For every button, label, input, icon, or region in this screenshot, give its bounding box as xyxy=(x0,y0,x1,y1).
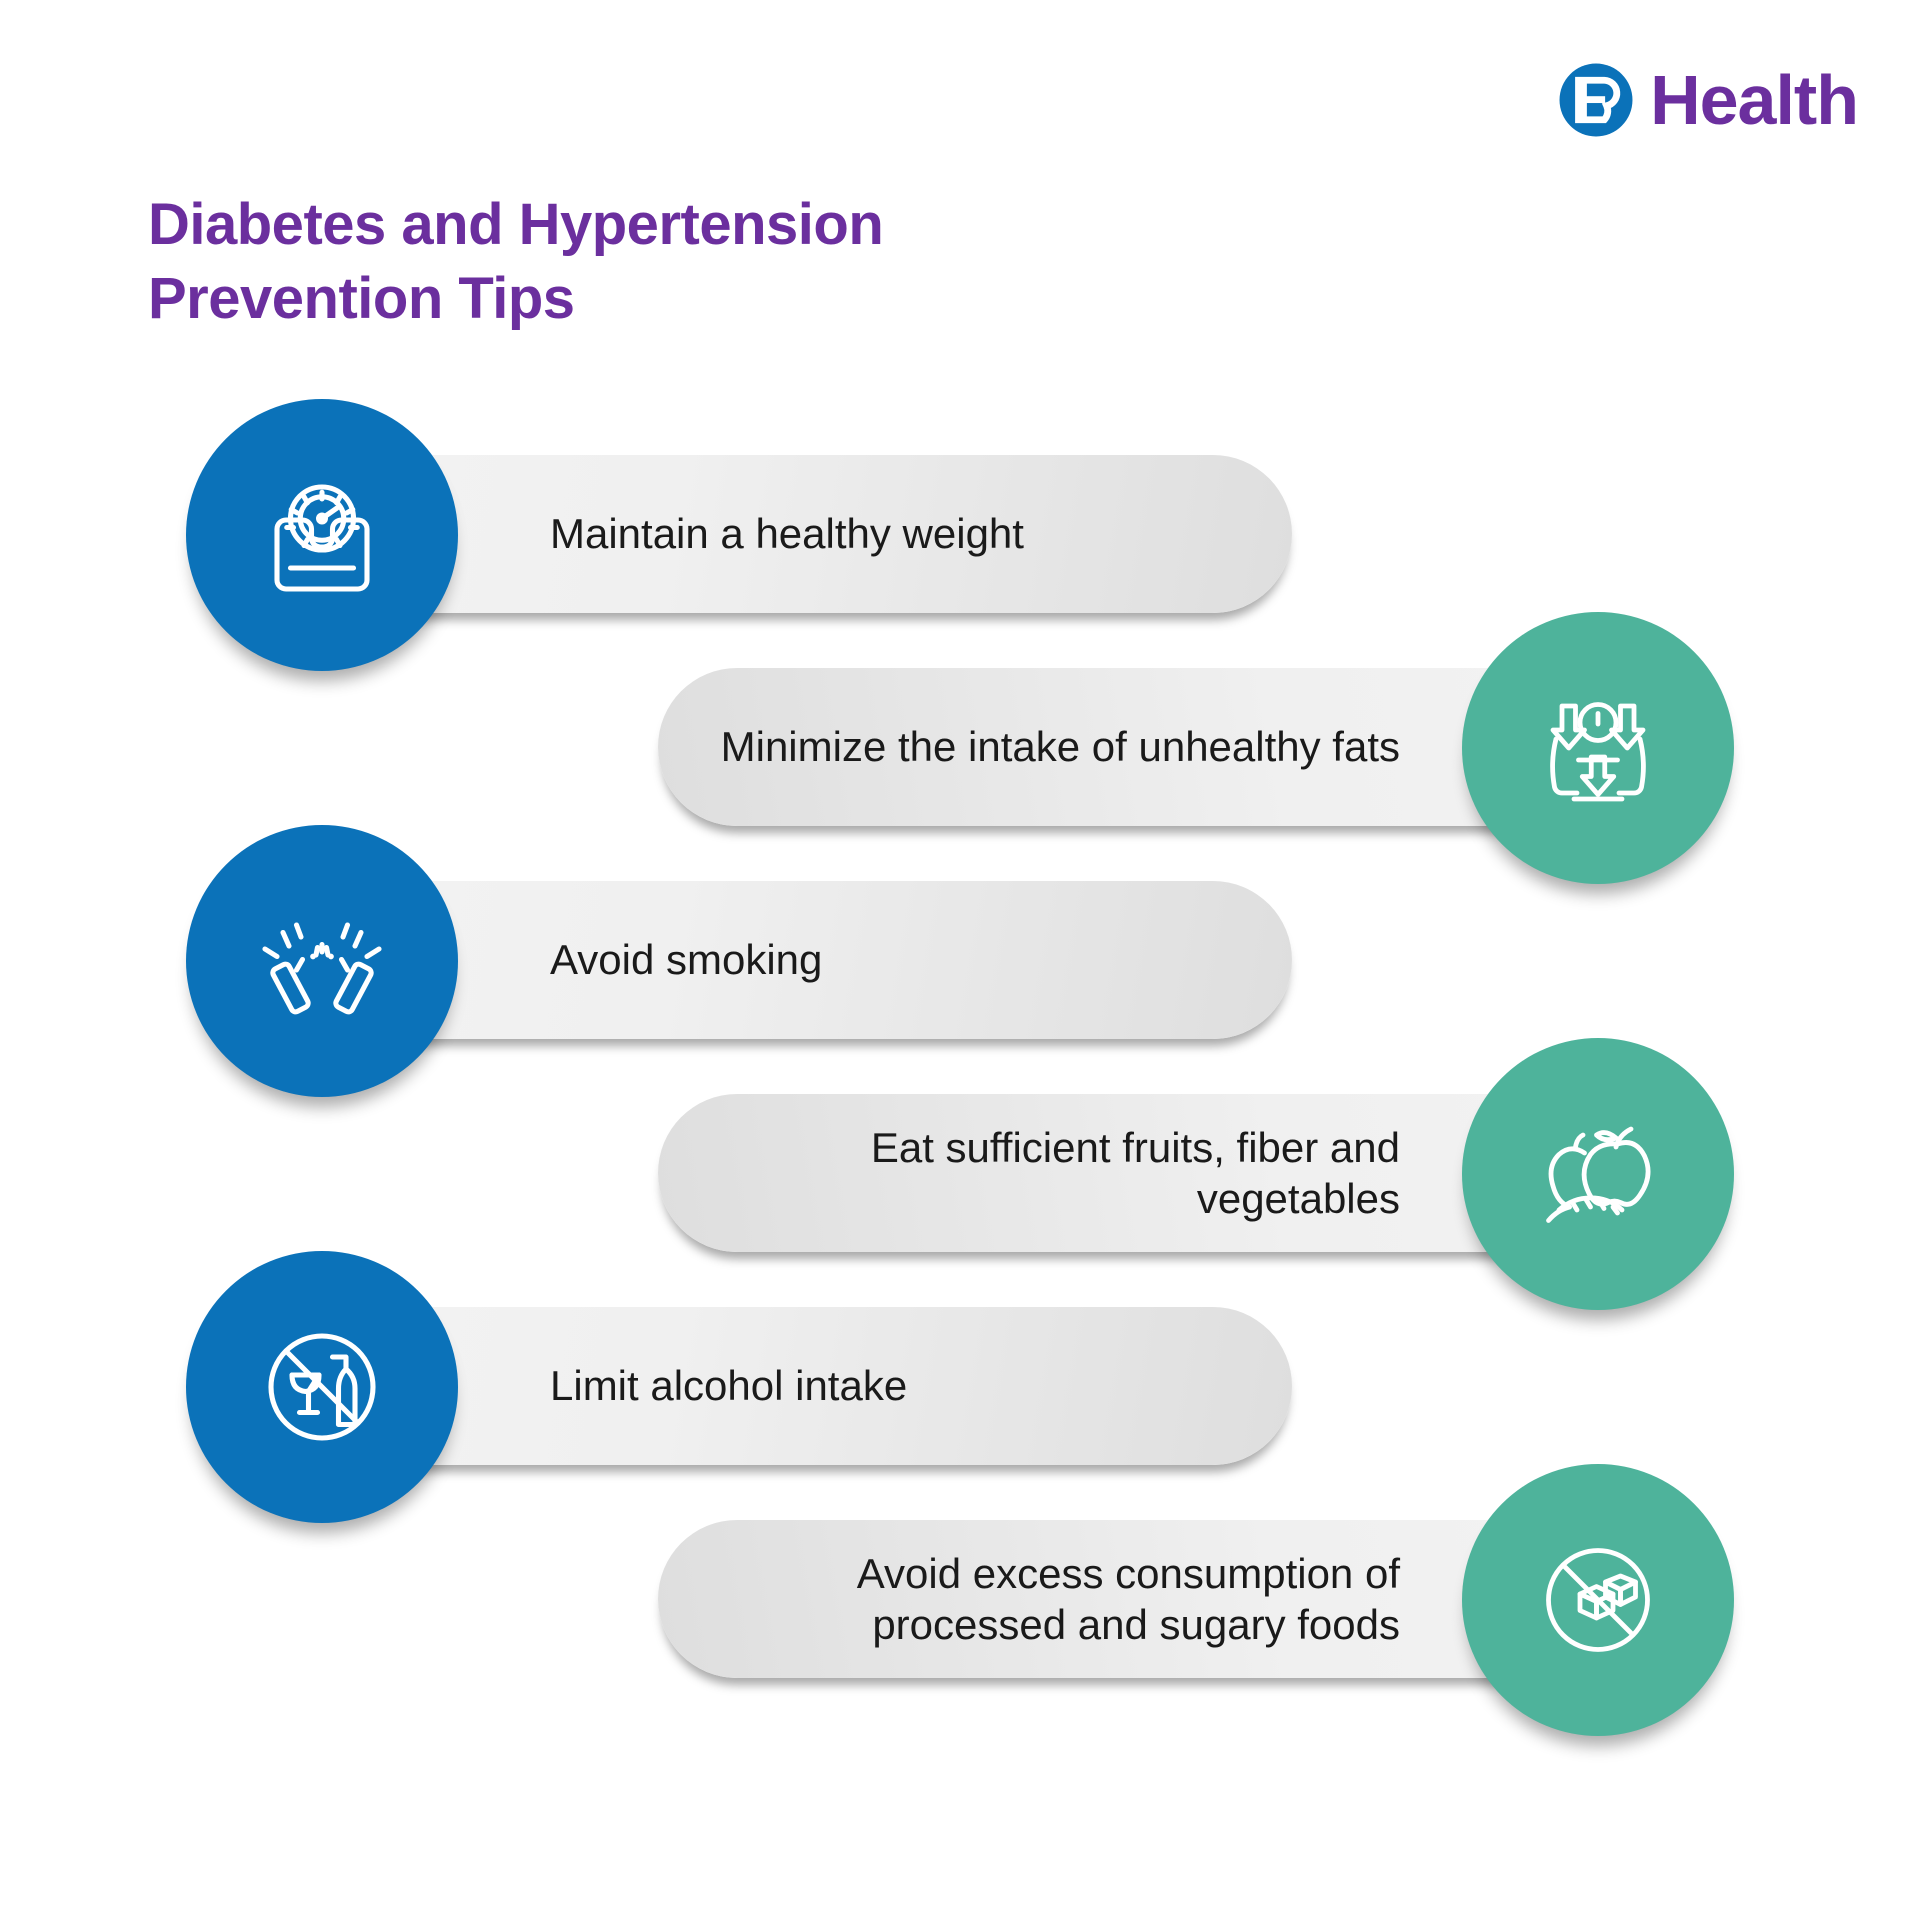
tip-badge-4[interactable] xyxy=(1462,1038,1734,1310)
infographic-page: Health Diabetes and Hypertension Prevent… xyxy=(0,0,1920,1920)
fruits-vegetables-icon xyxy=(1523,1099,1673,1249)
tip-badge-3[interactable] xyxy=(186,825,458,1097)
page-title-line-1: Diabetes and Hypertension xyxy=(148,192,883,257)
no-smoking-cigarette-icon xyxy=(247,886,397,1036)
brand-name: Health xyxy=(1650,65,1858,135)
tips-list: Maintain a healthy weight xyxy=(0,455,1920,1733)
tip-badge-6[interactable] xyxy=(1462,1464,1734,1736)
no-sugar-cubes-icon xyxy=(1523,1525,1673,1675)
tip-badge-5[interactable] xyxy=(186,1251,458,1523)
tip-badge-2[interactable] xyxy=(1462,612,1734,884)
tip-row-6: Avoid excess consumption of processed an… xyxy=(0,1520,1920,1733)
tip-label-1: Maintain a healthy weight xyxy=(550,508,1024,559)
tip-label-2: Minimize the intake of unhealthy fats xyxy=(721,721,1400,772)
page-title-line-2: Prevention Tips xyxy=(148,266,575,331)
tip-label-4: Eat sufficient fruits, fiber and vegetab… xyxy=(706,1122,1400,1224)
weighing-scale-icon xyxy=(247,460,397,610)
no-alcohol-icon xyxy=(247,1312,397,1462)
brand-logo: Health xyxy=(1558,62,1858,138)
tip-label-6: Avoid excess consumption of processed an… xyxy=(706,1548,1400,1650)
b-circle-logo-icon xyxy=(1558,62,1634,138)
tip-badge-1[interactable] xyxy=(186,399,458,671)
tip-label-5: Limit alcohol intake xyxy=(550,1360,907,1411)
page-title: Diabetes and Hypertension Prevention Tip… xyxy=(148,188,883,336)
reduce-fat-intake-icon xyxy=(1523,673,1673,823)
tip-label-3: Avoid smoking xyxy=(550,934,822,985)
